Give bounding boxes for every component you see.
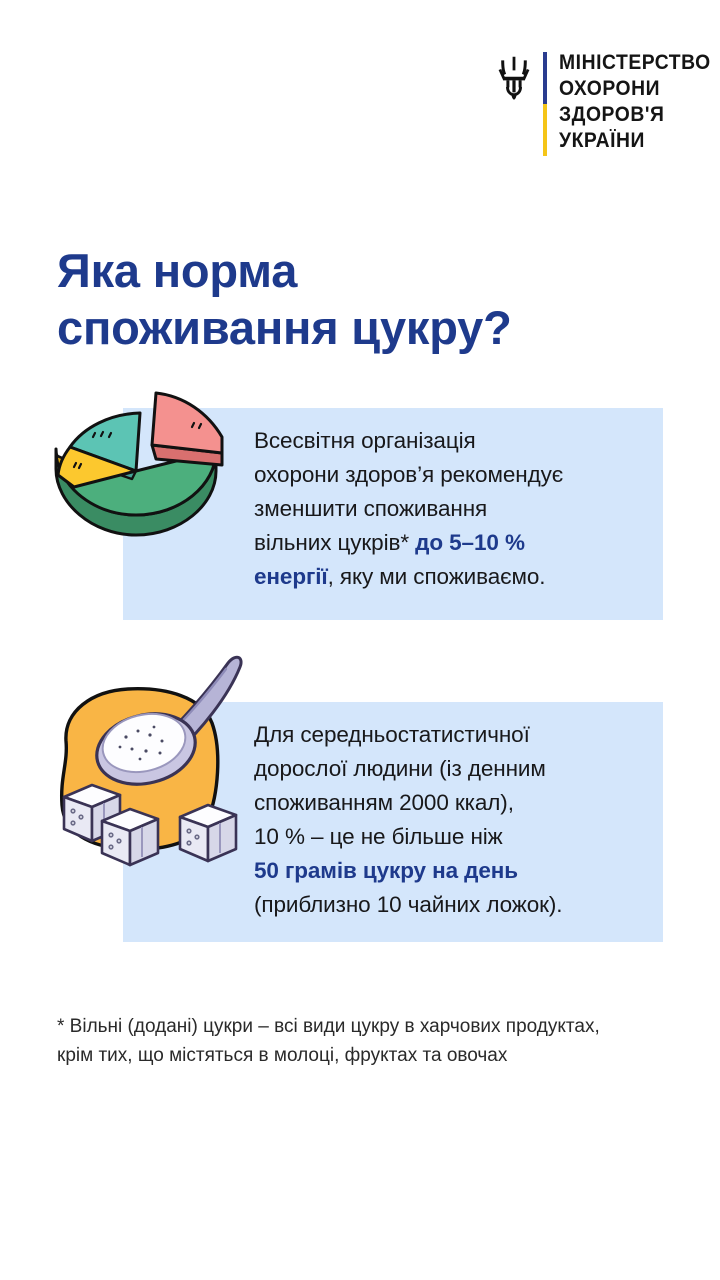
panel-one-line-4: вільних цукрів* до 5–10 %: [254, 526, 654, 560]
footnote-line-2: крім тих, що містяться в молоці, фруктах…: [57, 1041, 682, 1070]
panel-two-line-6: (приблизно 10 чайних ложок).: [254, 888, 664, 922]
panel-one-line-2: охорони здоров’я рекомендує: [254, 458, 654, 492]
page-title-line-2: споживання цукру?: [57, 299, 667, 356]
logo-divider-bar: [543, 52, 547, 156]
panel-one-line-5: енергії, яку ми споживаємо.: [254, 560, 654, 594]
page-title-line-1: Яка норма: [57, 242, 667, 299]
panel-one-text: Всесвітня організаціяохорони здоров’я ре…: [254, 424, 654, 594]
panel-one-line-1: Всесвітня організація: [254, 424, 654, 458]
ukraine-trident-icon: [497, 56, 531, 100]
ministry-name-line-1: МІНІСТЕРСТВО: [559, 50, 711, 76]
page-title: Яка норма споживання цукру?: [57, 242, 667, 356]
panel-two-line-5: 50 грамів цукру на день: [254, 854, 664, 888]
footnote: * Вільні (додані) цукри – всі види цукру…: [57, 1012, 682, 1070]
panel-two-line-3: споживанням 2000 ккал),: [254, 786, 664, 820]
spoon-with-sugar-illustration: [42, 645, 254, 873]
panel-two-line-4: 10 % – це не більше ніж: [254, 820, 664, 854]
ministry-name-line-2: ОХОРОНИ: [559, 76, 711, 102]
pie-chart-illustration: [44, 383, 242, 561]
panel-two-line-1: Для середньостатистичної: [254, 718, 664, 752]
ministry-logo: МІНІСТЕРСТВО ОХОРОНИ ЗДОРОВ'Я УКРАЇНИ: [497, 52, 720, 156]
panel-two-text: Для середньостатистичноїдорослої людини …: [254, 718, 664, 922]
ministry-name-line-3: ЗДОРОВ'Я: [559, 102, 711, 128]
ministry-name: МІНІСТЕРСТВО ОХОРОНИ ЗДОРОВ'Я УКРАЇНИ: [559, 50, 720, 154]
footnote-line-1: * Вільні (додані) цукри – всі види цукру…: [57, 1012, 682, 1041]
ministry-name-line-4: УКРАЇНИ: [559, 128, 711, 154]
panel-one-line-3: зменшити споживання: [254, 492, 654, 526]
panel-two-line-2: дорослої людини (із денним: [254, 752, 664, 786]
